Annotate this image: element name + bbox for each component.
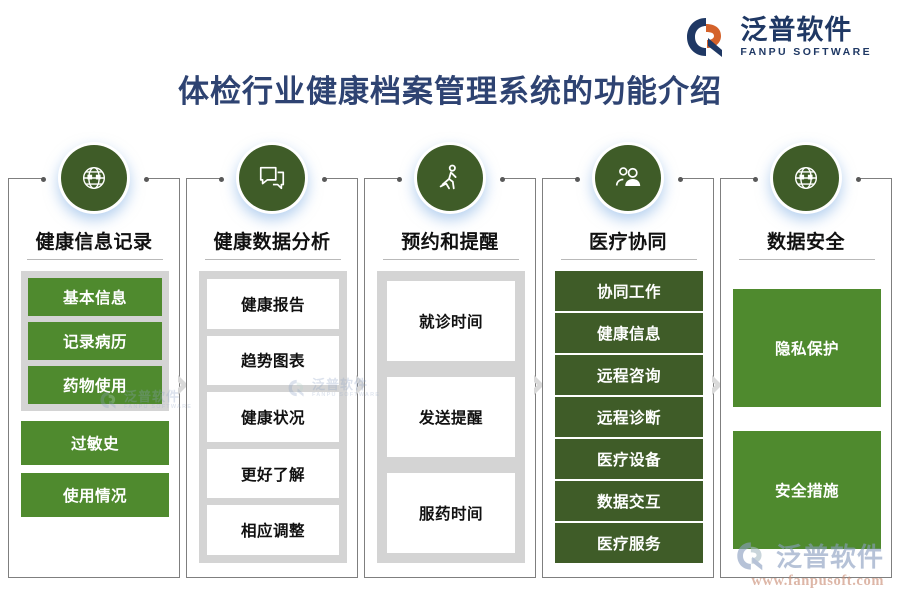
connector-dot-right [322, 177, 327, 182]
feature-group: 基本信息记录病历药物使用 [21, 271, 169, 411]
column-badge-chat-bubbles-icon[interactable] [239, 145, 305, 211]
feature-item[interactable]: 医疗服务 [555, 523, 703, 563]
feature-item[interactable]: 更好了解 [207, 449, 339, 499]
flow-column-medical-collaboration: 医疗协同协同工作健康信息远程咨询远程诊断医疗设备数据交互医疗服务 [542, 178, 714, 580]
brand-name-en: FANPU SOFTWARE [740, 47, 872, 58]
feature-item[interactable]: 远程咨询 [555, 355, 703, 395]
column-card: 健康数据分析健康报告趋势图表健康状况更好了解相应调整 [186, 178, 358, 578]
column-title: 健康数据分析 [187, 227, 357, 254]
feature-item[interactable]: 隐私保护 [733, 289, 881, 407]
feature-item[interactable]: 过敏史 [21, 421, 169, 465]
flow-column-health-info-record: 健康信息记录基本信息记录病历药物使用过敏史使用情况 [8, 178, 180, 580]
connector-dot-right [856, 177, 861, 182]
connector-dot-right [500, 177, 505, 182]
column-title: 数据安全 [721, 227, 891, 254]
feature-item[interactable]: 趋势图表 [207, 336, 339, 386]
feature-item[interactable]: 协同工作 [555, 271, 703, 311]
feature-item[interactable]: 相应调整 [207, 505, 339, 555]
flow-column-appointment-reminder: 预约和提醒就诊时间发送提醒服药时间 [364, 178, 536, 580]
page-title: 体检行业健康档案管理系统的功能介绍 [0, 66, 900, 111]
feature-item[interactable]: 药物使用 [28, 366, 162, 404]
feature-item[interactable]: 记录病历 [28, 322, 162, 360]
title-divider [205, 259, 341, 260]
title-divider [739, 259, 875, 260]
feature-item[interactable]: 数据交互 [555, 481, 703, 521]
column-title: 预约和提醒 [365, 227, 535, 254]
connector-dot-left [41, 177, 46, 182]
column-card: 预约和提醒就诊时间发送提醒服药时间 [364, 178, 536, 578]
infographic-page: 泛普软件 FANPU SOFTWARE 体检行业健康档案管理系统的功能介绍 健康… [0, 0, 900, 600]
feature-item[interactable]: 就诊时间 [387, 281, 515, 361]
flow-column-data-security: 数据安全隐私保护安全措施 [720, 178, 892, 580]
column-card: 医疗协同协同工作健康信息远程咨询远程诊断医疗设备数据交互医疗服务 [542, 178, 714, 578]
column-badge-globe-network-icon[interactable] [61, 145, 127, 211]
brand-logo: 泛普软件 FANPU SOFTWARE [686, 16, 872, 58]
column-title: 健康信息记录 [9, 227, 179, 254]
feature-item[interactable]: 健康状况 [207, 392, 339, 442]
column-badge-person-walking-icon[interactable] [417, 145, 483, 211]
feature-item[interactable]: 使用情况 [21, 473, 169, 517]
feature-item[interactable]: 健康报告 [207, 279, 339, 329]
flow-columns: 健康信息记录基本信息记录病历药物使用过敏史使用情况健康数据分析健康报告趋势图表健… [8, 178, 892, 580]
brand-name-cn: 泛普软件 [740, 17, 852, 44]
title-divider [561, 259, 697, 260]
connector-dot-left [397, 177, 402, 182]
feature-group: 协同工作健康信息远程咨询远程诊断医疗设备数据交互医疗服务 [555, 271, 703, 563]
feature-group: 健康报告趋势图表健康状况更好了解相应调整 [199, 271, 347, 563]
flow-column-health-data-analysis: 健康数据分析健康报告趋势图表健康状况更好了解相应调整 [186, 178, 358, 580]
feature-item[interactable]: 发送提醒 [387, 377, 515, 457]
fanpu-logo-icon [686, 16, 732, 58]
feature-group: 就诊时间发送提醒服药时间 [377, 271, 525, 563]
feature-item[interactable]: 安全措施 [733, 431, 881, 549]
column-badge-globe-network-icon[interactable] [773, 145, 839, 211]
title-divider [27, 259, 163, 260]
column-card: 数据安全隐私保护安全措施 [720, 178, 892, 578]
feature-group: 过敏史使用情况 [21, 421, 169, 517]
connector-dot-left [575, 177, 580, 182]
connector-dot-left [753, 177, 758, 182]
column-badge-users-group-icon[interactable] [595, 145, 661, 211]
feature-item[interactable]: 健康信息 [555, 313, 703, 353]
connector-dot-right [678, 177, 683, 182]
feature-item[interactable]: 基本信息 [28, 278, 162, 316]
column-title: 医疗协同 [543, 227, 713, 254]
connector-dot-left [219, 177, 224, 182]
feature-item[interactable]: 服药时间 [387, 473, 515, 553]
column-card: 健康信息记录基本信息记录病历药物使用过敏史使用情况 [8, 178, 180, 578]
feature-item[interactable]: 医疗设备 [555, 439, 703, 479]
connector-dot-right [144, 177, 149, 182]
feature-item[interactable]: 远程诊断 [555, 397, 703, 437]
feature-group: 隐私保护安全措施 [733, 289, 881, 549]
title-divider [383, 259, 519, 260]
